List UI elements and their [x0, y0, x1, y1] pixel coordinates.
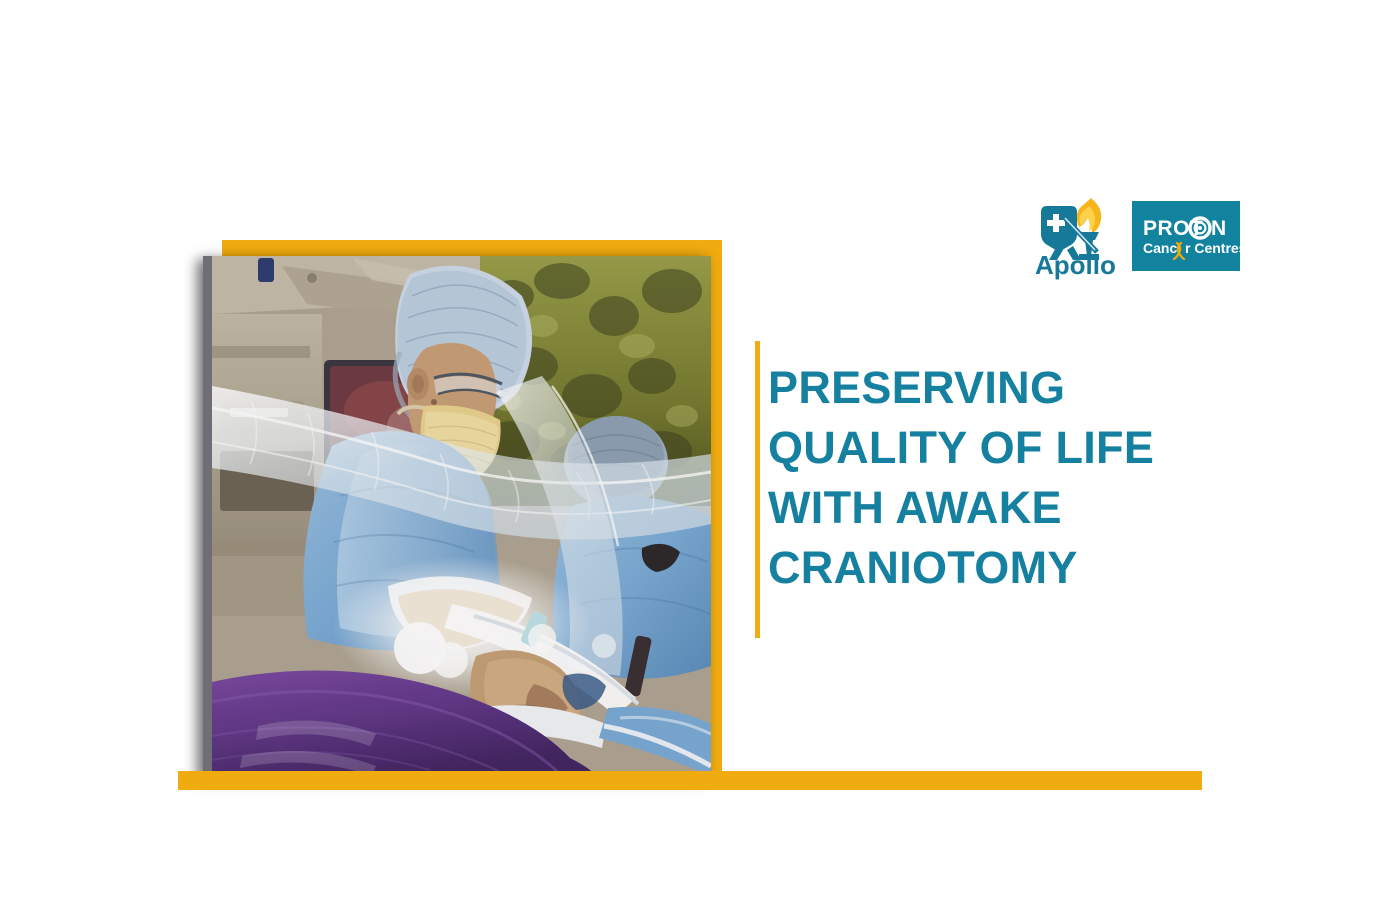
title-accent-rule	[755, 341, 760, 638]
proton-word-canc: Canc	[1143, 240, 1177, 256]
hero-photo	[203, 256, 711, 778]
title-line-3: WITH AWAKE	[768, 478, 1238, 538]
title-line-1: PRESERVING	[768, 358, 1238, 418]
proton-cancer-centres-logo: PROT N Canc r Centres	[1132, 201, 1240, 271]
slide-canvas: PRESERVING QUALITY OF LIFE WITH AWAKE CR…	[0, 0, 1400, 920]
apollo-logo: Apollo	[1035, 196, 1123, 276]
bottom-accent-bar	[178, 771, 1202, 790]
surgery-illustration	[212, 256, 711, 776]
page-title: PRESERVING QUALITY OF LIFE WITH AWAKE CR…	[768, 358, 1238, 598]
photo-image	[212, 256, 711, 776]
proton-word-r-centres: r Centres	[1185, 240, 1247, 256]
title-line-4: CRANIOTOMY	[768, 538, 1238, 598]
apollo-wordmark: Apollo	[1035, 250, 1116, 280]
title-line-2: QUALITY OF LIFE	[768, 418, 1238, 478]
proton-word-n: N	[1211, 217, 1226, 240]
apollo-torch-shield-icon: Apollo	[1035, 196, 1123, 276]
logo-group: Apollo PROT N Canc r Centres	[1035, 196, 1240, 276]
proton-logo-icon: PROT N Canc r Centres	[1132, 201, 1240, 271]
